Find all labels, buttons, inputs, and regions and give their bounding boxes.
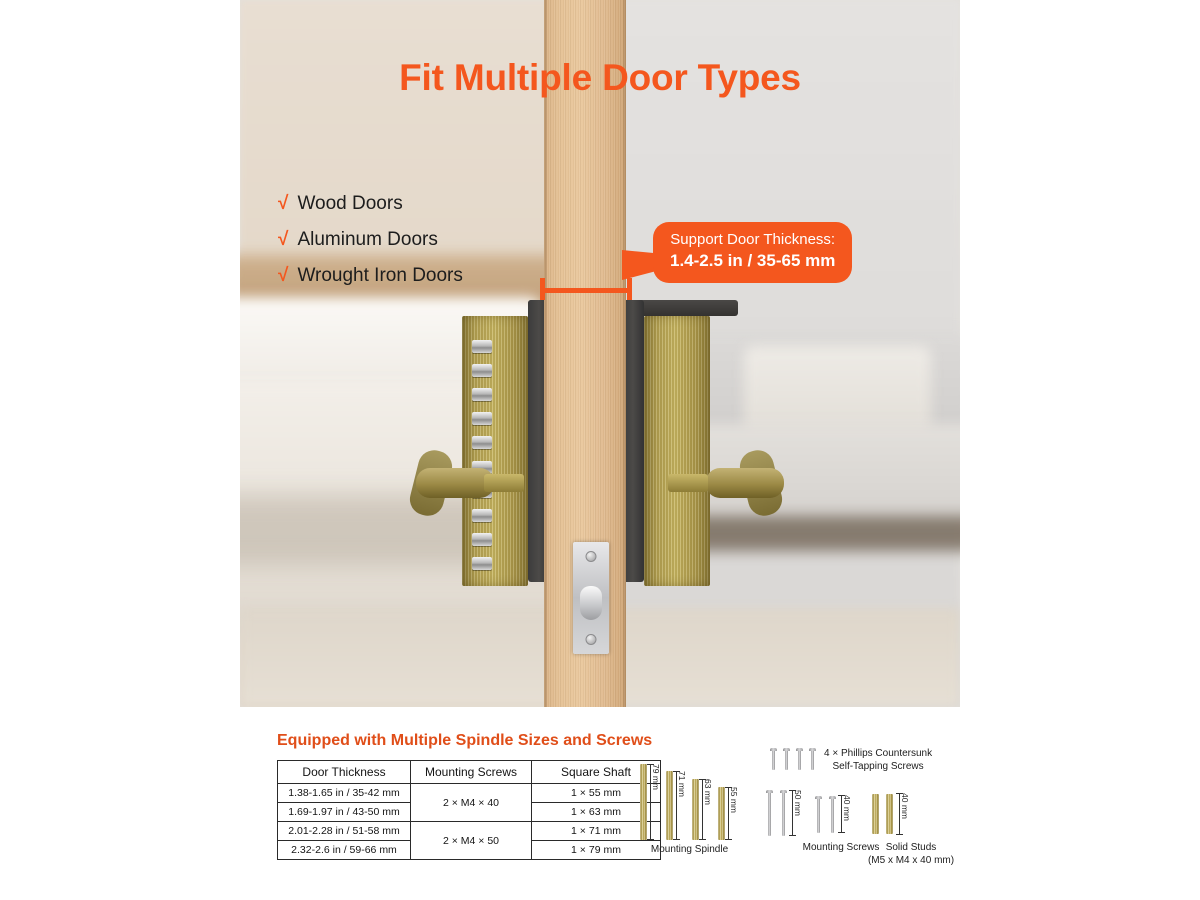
phillips-screw-icon (783, 748, 790, 770)
faceplate-screw-bottom (586, 634, 597, 645)
keypad-key (472, 364, 492, 377)
mounting-spindle-caption: Mounting Spindle (640, 844, 739, 857)
dimension-bar (702, 779, 703, 840)
mounting-screw-item-50: 50 mm (766, 790, 803, 836)
checklist-item-label: Wood Doors (297, 193, 402, 215)
dimension-bar (899, 793, 900, 835)
solid-stud-icon (872, 794, 879, 834)
cell-thickness: 2.01-2.28 in / 51-58 mm (278, 822, 411, 841)
cell-screws: 2 × M4 × 40 (411, 784, 532, 822)
checklist-item-aluminum: √ Aluminum Doors (278, 229, 463, 251)
dimension-bar (728, 787, 729, 840)
phillips-screws-caption-line2: Self-Tapping Screws (824, 761, 932, 774)
solid-stud-icon (886, 794, 893, 834)
bracket-line (540, 288, 632, 293)
cell-thickness: 2.32-2.6 in / 59-66 mm (278, 841, 411, 860)
product-photo (240, 0, 960, 707)
phillips-screws-caption-line1: 4 × Phillips Countersunk (824, 748, 932, 761)
cell-thickness: 1.69-1.97 in / 43-50 mm (278, 803, 411, 822)
keypad-key (472, 509, 492, 522)
lever-handle-right (706, 468, 784, 498)
phillips-screw-icon (770, 748, 777, 770)
mounting-screw-length-label: 50 mm (793, 790, 803, 836)
keypad-left (472, 340, 492, 570)
screw-icon (766, 790, 773, 836)
spindle-length-label: 63 mm (703, 779, 713, 840)
phillips-screw-icon (809, 748, 816, 770)
spindle-length-label: 55 mm (729, 787, 739, 840)
table-header-row: Door Thickness Mounting Screws Square Sh… (278, 761, 661, 784)
spindle-length-label: 79 mm (651, 764, 661, 840)
screw-icon (815, 796, 822, 833)
keypad-key (472, 533, 492, 546)
checklist-item-label: Aluminum Doors (297, 229, 437, 251)
callout-value: 1.4-2.5 in / 35-65 mm (670, 250, 835, 273)
spindle-item-63: 63 mm (692, 779, 713, 840)
door-thickness-callout: Support Door Thickness: 1.4-2.5 in / 35-… (653, 222, 852, 283)
solid-studs-group: 40 mm Solid Studs (M5 x M4 x 40 mm) (872, 790, 966, 867)
keypad-key (472, 557, 492, 570)
latch-bolt (580, 586, 602, 620)
spindle-bar-left (484, 474, 524, 492)
spindle-item-55: 55 mm (718, 787, 739, 840)
door-edge-right (623, 0, 626, 707)
bracket-tick-right (627, 278, 632, 300)
keypad-key (472, 412, 492, 425)
spec-table: Door Thickness Mounting Screws Square Sh… (277, 760, 661, 860)
checklist-item-wrought-iron: √ Wrought Iron Doors (278, 265, 463, 287)
table-row: 1.38-1.65 in / 35-42 mm 2 × M4 × 40 1 × … (278, 784, 661, 803)
thickness-bracket (540, 278, 632, 300)
check-icon: √ (278, 266, 288, 285)
spindle-rod-icon (718, 787, 725, 840)
column-header-thickness: Door Thickness (278, 761, 411, 784)
spindle-rod-icon (640, 764, 647, 840)
dimension-bar (676, 771, 677, 840)
spindle-rod-icon (692, 779, 699, 840)
check-icon: √ (278, 194, 288, 213)
dimension-bar (650, 764, 651, 840)
checklist-item-wood: √ Wood Doors (278, 193, 463, 215)
checklist-item-label: Wrought Iron Doors (297, 265, 462, 287)
cell-screws: 2 × M4 × 50 (411, 822, 532, 860)
callout-label: Support Door Thickness: (670, 230, 835, 250)
door-edge-left (544, 0, 547, 707)
faceplate-screw-top (586, 551, 597, 562)
brass-plate-right (644, 316, 710, 586)
dimension-bar (792, 790, 793, 836)
mounting-screw-item-40: 40 mm (815, 790, 852, 833)
table-row: 2.01-2.28 in / 51-58 mm 2 × M4 × 50 1 × … (278, 822, 661, 841)
column-header-screws: Mounting Screws (411, 761, 532, 784)
screw-icon (829, 796, 836, 833)
screw-icon (780, 790, 787, 836)
accessories-section-title: Equipped with Multiple Spindle Sizes and… (277, 732, 652, 750)
spindle-rod-icon (666, 771, 673, 840)
lever-handle-left (416, 468, 494, 498)
solid-studs-caption-line1: Solid Studs (856, 842, 966, 855)
dimension-bar (841, 795, 842, 833)
phillips-screws-group: 4 × Phillips Countersunk Self-Tapping Sc… (770, 748, 932, 773)
solid-studs-caption-line2: (M5 x M4 x 40 mm) (856, 855, 966, 868)
spindle-item-71: 71 mm (666, 771, 687, 840)
page-title: Fit Multiple Door Types (0, 57, 1200, 99)
spindle-item-79: 79 mm (640, 764, 661, 840)
keypad-key (472, 388, 492, 401)
spindle-length-label: 71 mm (677, 771, 687, 840)
solid-stud-length-label: 40 mm (900, 793, 910, 835)
spindle-bar-right (668, 474, 708, 492)
cell-thickness: 1.38-1.65 in / 35-42 mm (278, 784, 411, 803)
keypad-key (472, 340, 492, 353)
mounting-screw-length-label: 40 mm (842, 795, 852, 833)
mounting-spindle-group: 79 mm 71 mm 63 mm 55 mm Mounting Spindle (640, 762, 739, 857)
door-type-checklist: √ Wood Doors √ Aluminum Doors √ Wrought … (278, 193, 463, 301)
check-icon: √ (278, 230, 288, 249)
latch-faceplate (573, 542, 609, 654)
phillips-screw-icon (796, 748, 803, 770)
keypad-key (472, 436, 492, 449)
